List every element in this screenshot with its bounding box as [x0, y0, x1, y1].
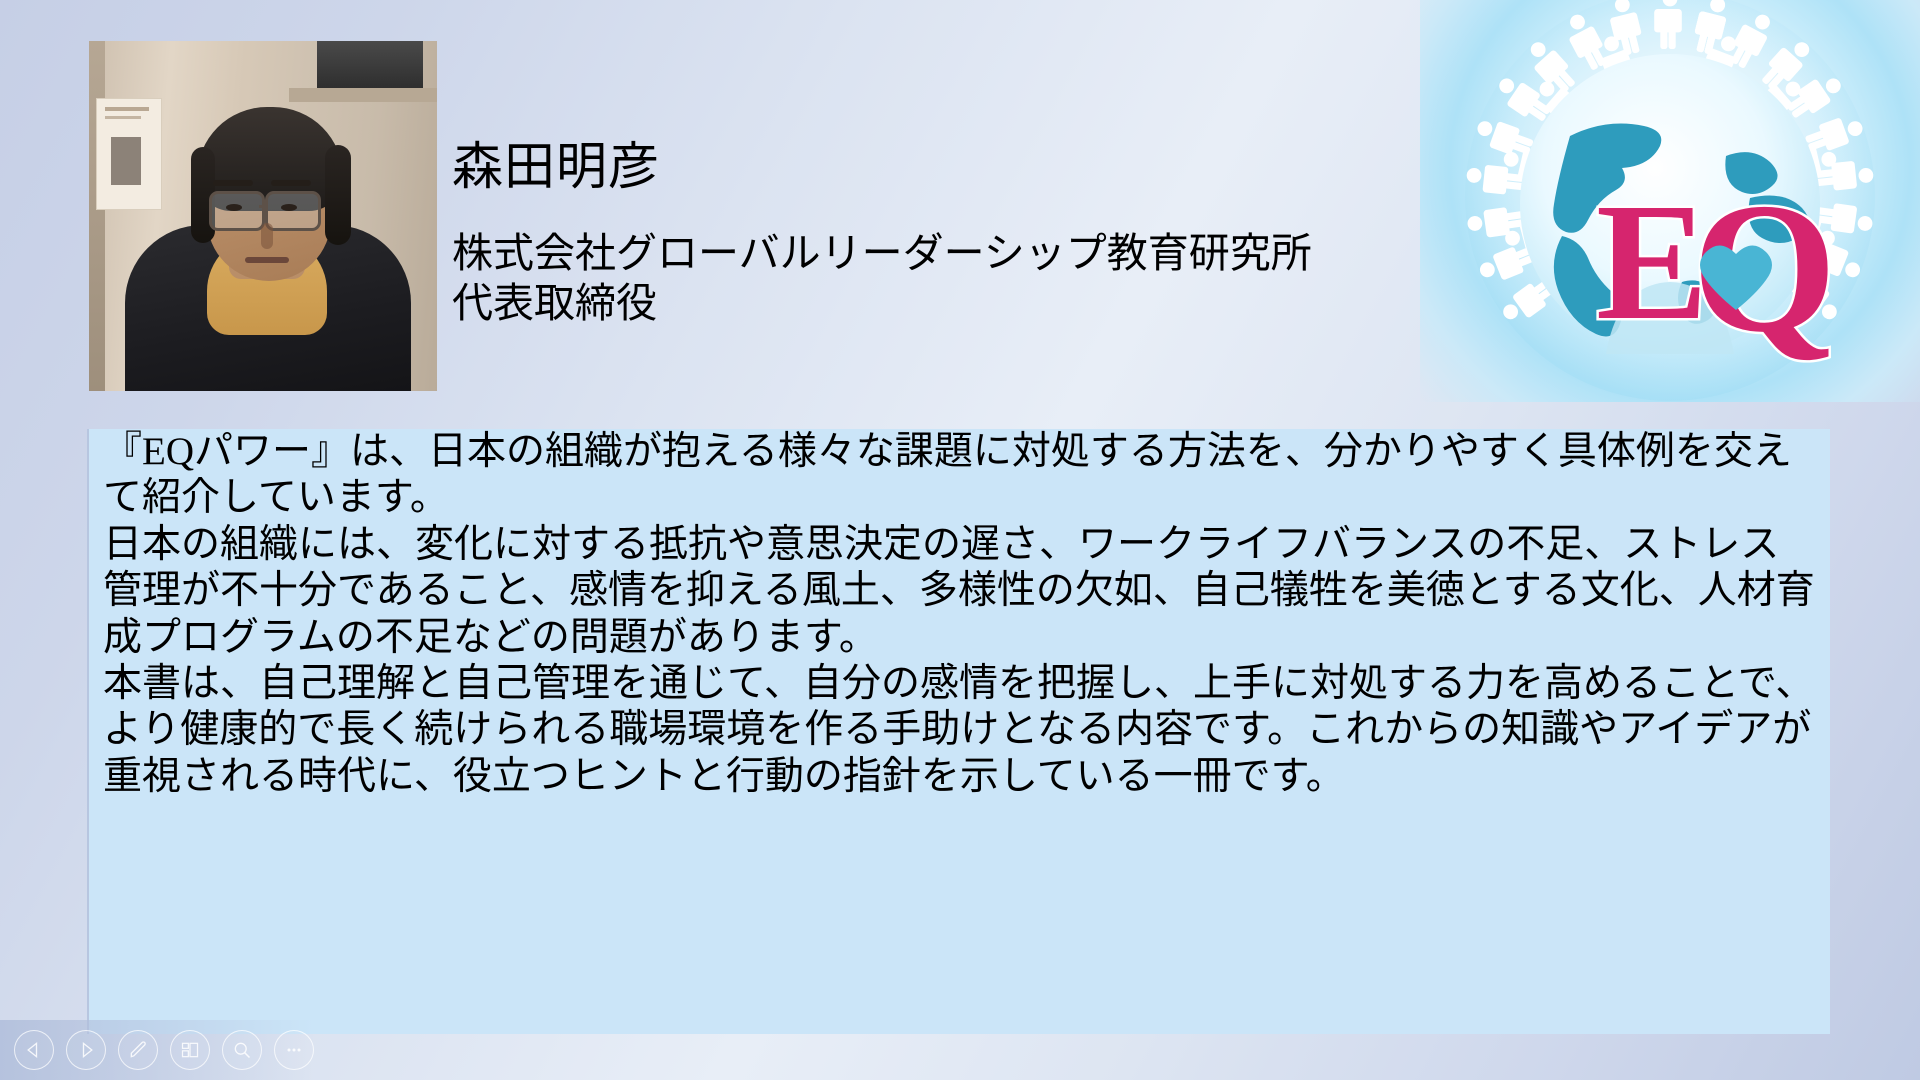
photo-person-nose	[261, 223, 273, 249]
chevron-right-icon	[76, 1040, 96, 1060]
photo-door-edge	[89, 41, 105, 391]
photo-person-glasses-right	[265, 191, 321, 231]
magnifier-icon	[232, 1040, 252, 1060]
content-box: 『EQパワー』は、日本の組織が抱える様々な課題に対処する方法を、分かりやすく具体…	[89, 429, 1830, 1034]
grid-icon	[180, 1040, 200, 1060]
presentation-slide: 森田明彦 株式会社グローバルリーダーシップ教育研究所 代表取締役	[0, 0, 1920, 1080]
photo-person-eyebrow-left	[213, 180, 253, 186]
ellipsis-icon	[284, 1040, 304, 1060]
next-slide-button[interactable]	[66, 1030, 106, 1070]
slide-grid-button[interactable]	[170, 1030, 210, 1070]
presenter-affiliation-line-1: 株式会社グローバルリーダーシップ教育研究所	[452, 228, 1312, 278]
photo-shelf-dark	[317, 41, 423, 89]
photo-shelf-light	[289, 88, 437, 102]
previous-slide-button[interactable]	[14, 1030, 54, 1070]
photo-person-glasses-left	[209, 191, 265, 231]
content-paragraph-1: 『EQパワー』は、日本の組織が抱える様々な課題に対処する方法を、分かりやすく具体…	[89, 429, 1830, 522]
zoom-button[interactable]	[222, 1030, 262, 1070]
presenter-name: 森田明彦	[452, 142, 660, 196]
content-paragraph-2: 日本の組織には、変化に対する抵抗や意思決定の遅さ、ワークライフバランスの不足、ス…	[89, 522, 1830, 661]
pen-icon	[128, 1040, 148, 1060]
poster-line-1	[105, 107, 149, 111]
photo-person-glasses-bridge	[259, 205, 267, 208]
presenter-toolbar	[0, 1020, 314, 1080]
poster-line-2	[105, 116, 141, 119]
photo-person-eye-left	[226, 204, 242, 211]
presenter-affiliation-line-2: 代表取締役	[452, 278, 1312, 328]
content-paragraph-3: 本書は、自己理解と自己管理を通じて、自分の感情を把握し、上手に対処する力を高める…	[89, 661, 1830, 800]
photo-person-eyebrow-right	[271, 180, 311, 186]
presenter-affiliation: 株式会社グローバルリーダーシップ教育研究所 代表取締役	[452, 228, 1312, 328]
photo-person-eye-right	[281, 204, 297, 211]
eq-globe-logo: E Q	[1420, 0, 1920, 402]
photo-person-mouth	[245, 257, 289, 263]
pen-tool-button[interactable]	[118, 1030, 158, 1070]
presenter-photo	[89, 41, 437, 391]
more-options-button[interactable]	[274, 1030, 314, 1070]
chevron-left-icon	[24, 1040, 44, 1060]
photo-wall-poster	[97, 99, 161, 209]
